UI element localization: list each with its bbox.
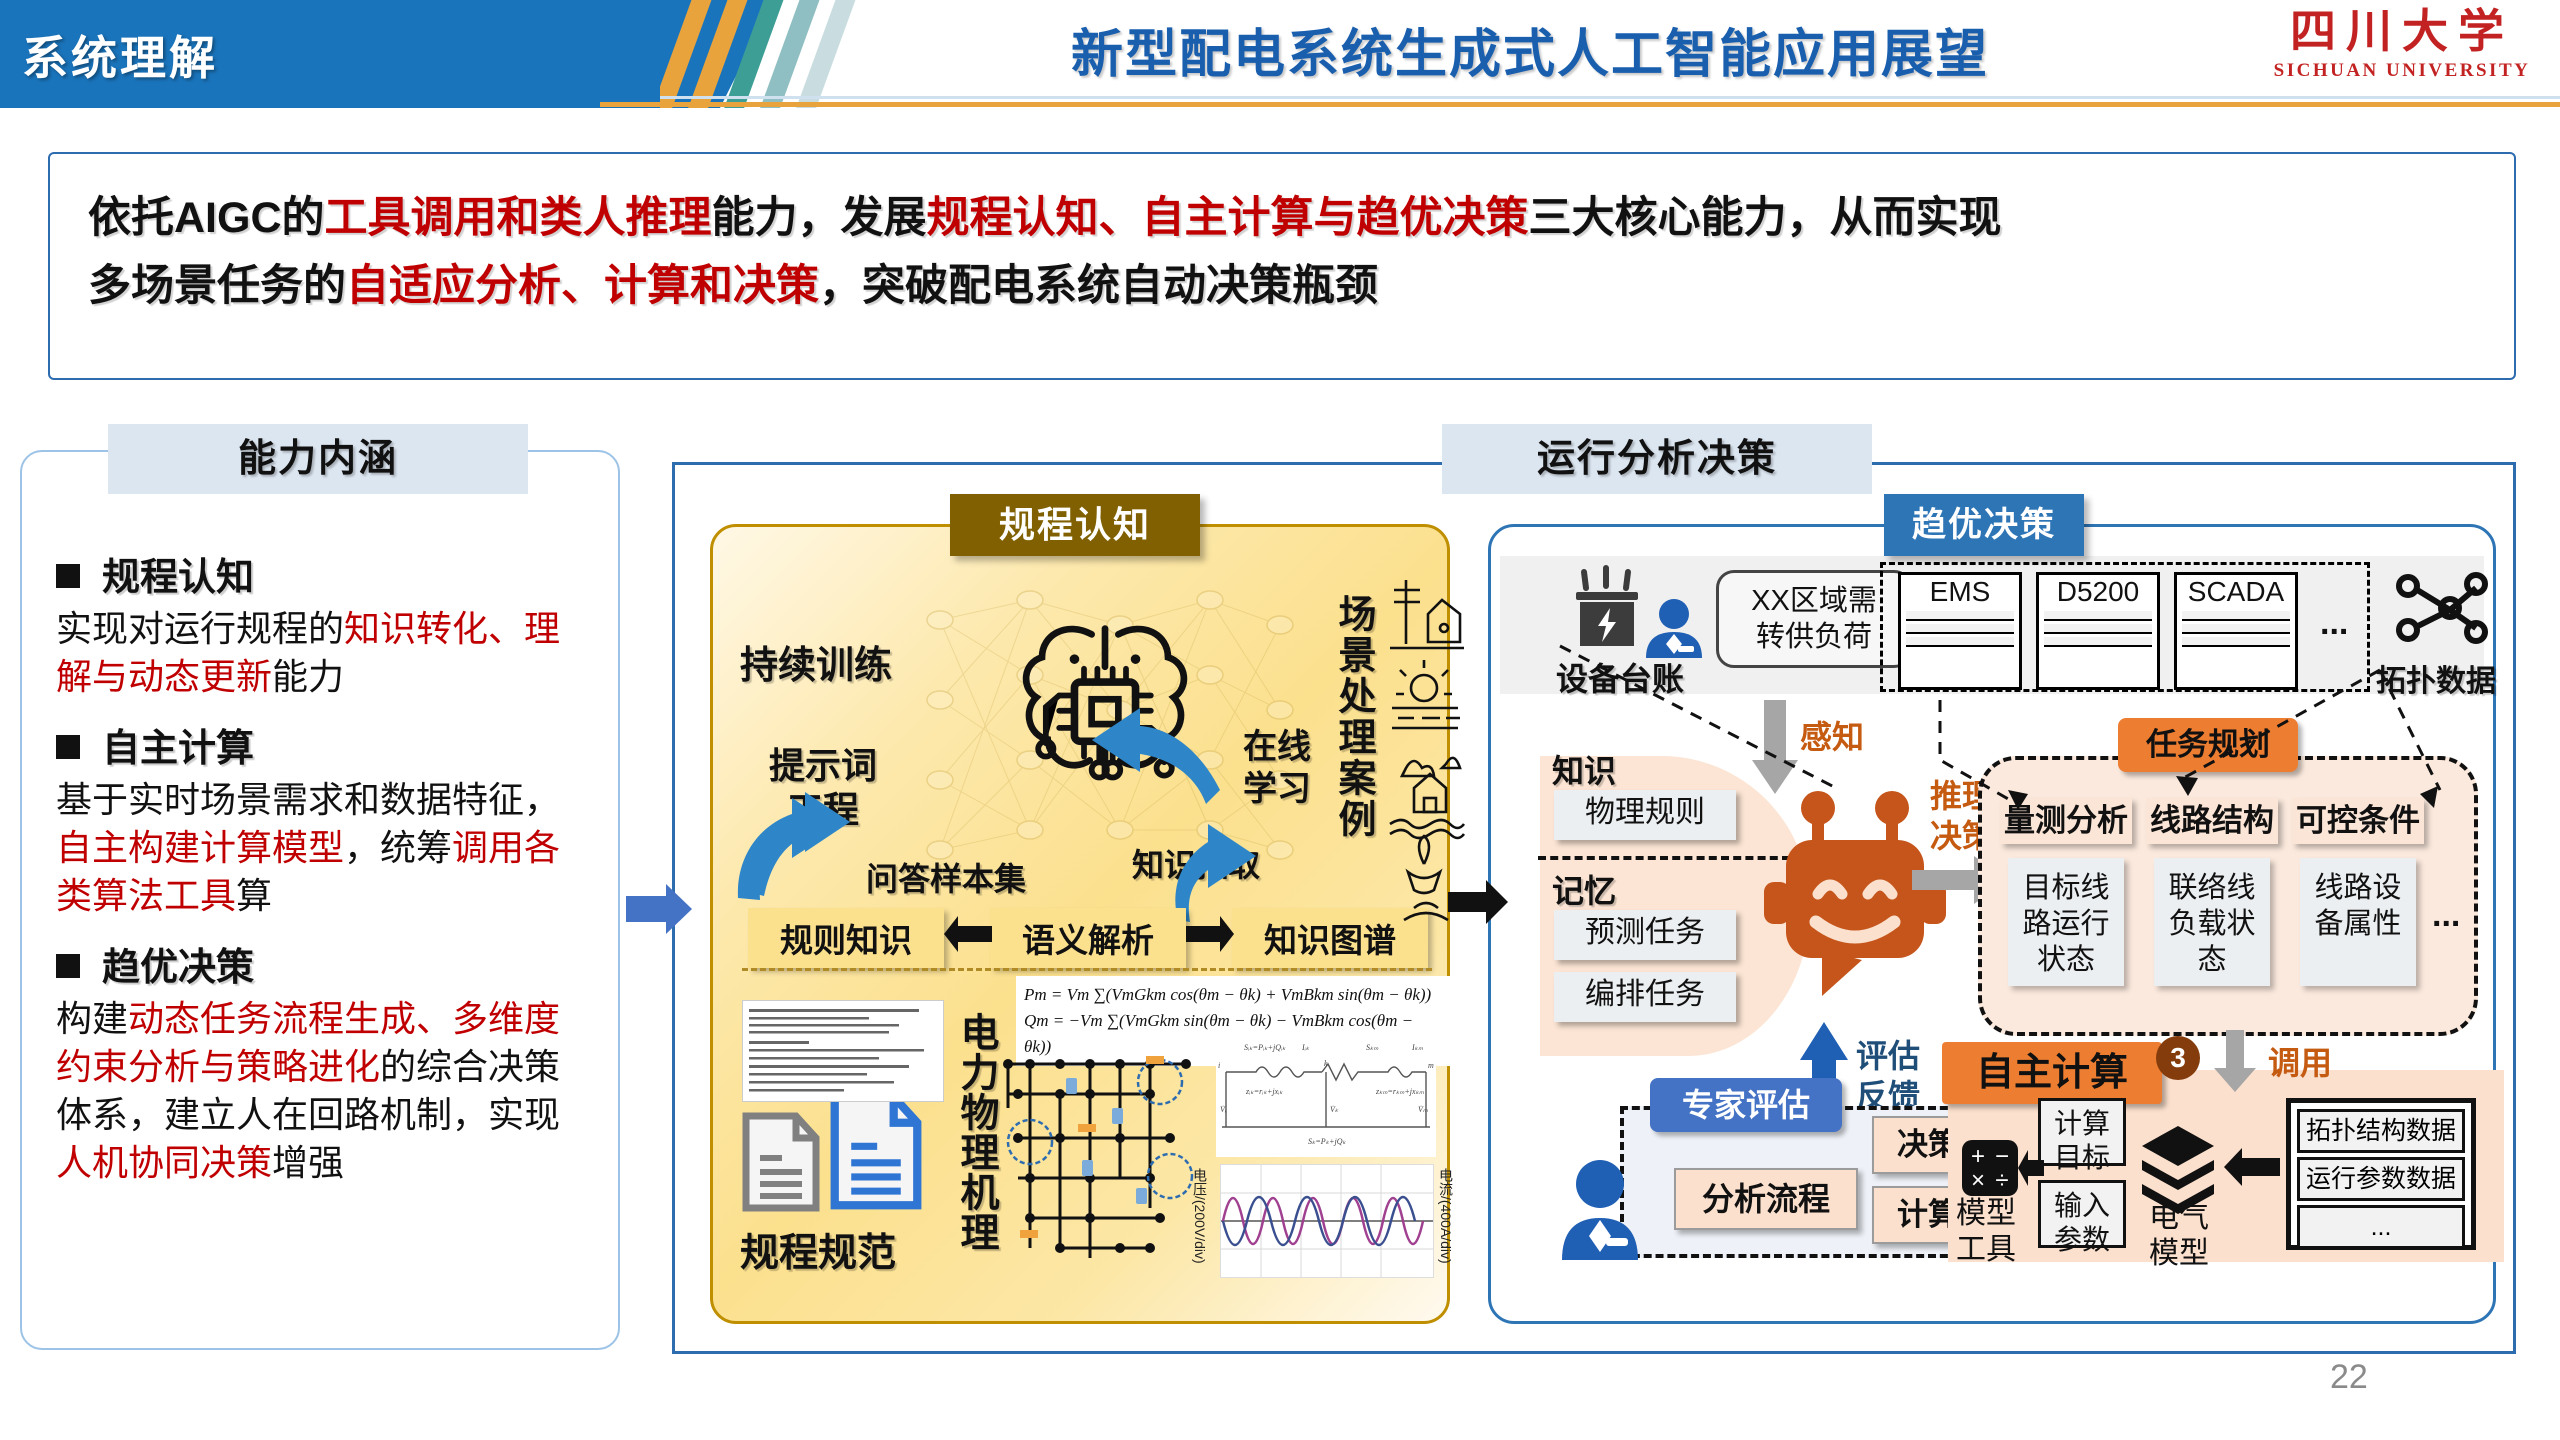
arrow-middle-to-right-icon bbox=[1448, 880, 1510, 924]
bullet-head-1: 规程认知 bbox=[56, 546, 596, 601]
bullet-3-a: 构建 bbox=[56, 998, 128, 1039]
chip-semantic-parsing: 语义解析 bbox=[990, 908, 1186, 968]
bullet-2-b: ，统筹 bbox=[344, 827, 452, 868]
statement-line-1: 依托AIGC的工具调用和类人推理能力，发展规程认知、自主计算与趋优决策三大核心能… bbox=[88, 184, 2476, 252]
waveform-axis-right: 电流/(400A/div) bbox=[1436, 1168, 1456, 1264]
statement-1e: 三大核心能力，从而实现 bbox=[1529, 194, 2002, 242]
bullet-3-c: 增强 bbox=[272, 1142, 344, 1183]
left-caption-text: 能力内涵 bbox=[238, 438, 398, 480]
autonomous-computation-tag: 自主计算 bbox=[1942, 1042, 2162, 1104]
label-invoke: 调用 bbox=[2268, 1038, 2332, 1084]
svg-text:k: k bbox=[1324, 1059, 1328, 1068]
expert-item-analysis-flow: 分析流程 bbox=[1674, 1168, 1858, 1230]
bullet-2-a: 基于实时场景需求和数据特征， bbox=[56, 779, 560, 820]
label-electric-model: 电气 模型 bbox=[2134, 1200, 2224, 1272]
right-caption-text: 运行分析决策 bbox=[1537, 438, 1777, 480]
bullet-body-3: 构建动态任务流程生成、多维度约束分析与策略进化的综合决策体系，建立人在回路机制，… bbox=[56, 995, 596, 1187]
task-columns-ellipsis: ... bbox=[2432, 896, 2460, 935]
statement-2b: 自适应分析、计算和决策 bbox=[346, 262, 819, 310]
logo-english-name: SICHUAN UNIVERSITY bbox=[2252, 60, 2552, 82]
page-number: 22 bbox=[2330, 1358, 2368, 1397]
svg-text:m: m bbox=[1428, 1061, 1434, 1070]
dashed-connectors bbox=[1540, 640, 2500, 840]
svg-text:i: i bbox=[1218, 1061, 1220, 1070]
bullet-1-title: 规程认知 bbox=[102, 557, 254, 599]
arrow-tool-left-icon bbox=[2018, 1150, 2044, 1186]
arrow-left-icon bbox=[944, 914, 994, 954]
svg-text:Sₖ=Pₖ+jQₖ: Sₖ=Pₖ+jQₖ bbox=[1308, 1137, 1346, 1146]
svg-text:Sₖₘ: Sₖₘ bbox=[1366, 1043, 1378, 1052]
page-title: 新型配电系统生成式人工智能应用展望 bbox=[840, 12, 2220, 87]
data-item-topology: 拓扑结构数据 bbox=[2297, 1109, 2465, 1153]
label-model-tool: 模型 工具 bbox=[1956, 1196, 2016, 1268]
bullet-2-red: 自主构建计算模型 bbox=[56, 827, 344, 868]
svg-text:Iᵢₖ: Iᵢₖ bbox=[1301, 1043, 1310, 1052]
document-gray-icon bbox=[742, 1112, 820, 1212]
formula-p: Pm = Vm ∑(VmGkm cos(θm − θk) + VmBkm sin… bbox=[1024, 982, 1444, 1008]
bullet-3-title: 趋优决策 bbox=[102, 947, 254, 989]
svg-text:V̇ᵢ: V̇ᵢ bbox=[1220, 1105, 1226, 1114]
header-stripe-decoration bbox=[660, 0, 860, 108]
task-col-body-line-structure: 联络线负载状态 bbox=[2154, 858, 2270, 986]
statement-line-2: 多场景任务的自适应分析、计算和决策，突破配电系统自动决策瓶颈 bbox=[88, 252, 2476, 320]
label-memory: 记忆 bbox=[1552, 866, 1616, 912]
knowledge-memory-divider bbox=[1538, 856, 1790, 860]
statement-1c: 能力，发展 bbox=[712, 194, 927, 242]
label-evaluate-feedback: 评估 反馈 bbox=[1856, 1036, 1920, 1116]
bullet-head-2: 自主计算 bbox=[56, 717, 596, 772]
bullet-body-1: 实现对运行规程的知识转化、理解与动态更新能力 bbox=[56, 605, 596, 701]
waveform-plot bbox=[1220, 1164, 1434, 1278]
statement-1d: 规程认知、自主计算与趋优决策 bbox=[927, 194, 1529, 242]
bullet-body-2: 基于实时场景需求和数据特征，自主构建计算模型，统筹调用各类算法工具算 bbox=[56, 776, 596, 920]
header-section-label: 系统理解 bbox=[22, 22, 218, 88]
data-item-ellipsis: ... bbox=[2297, 1205, 2465, 1249]
regulation-cognition-tag: 规程认知 bbox=[950, 494, 1200, 556]
page-header: 系统理解 新型配电系统生成式人工智能应用展望 四川大学 SICHUAN UNIV… bbox=[0, 0, 2560, 108]
bullet-2-title: 自主计算 bbox=[102, 728, 254, 770]
university-logo: 四川大学 SICHUAN UNIVERSITY bbox=[2252, 4, 2552, 104]
box-input-param: 输入 参数 bbox=[2038, 1180, 2126, 1248]
code-snippet-thumbnail bbox=[742, 1000, 944, 1102]
yellow-divider bbox=[742, 968, 1432, 971]
statement-2a: 多场景任务的 bbox=[88, 262, 346, 310]
arrow-right-icon bbox=[1186, 914, 1236, 954]
task-col-body-measurement: 目标线路运行状态 bbox=[2008, 858, 2124, 986]
capability-list: 规程认知 实现对运行规程的知识转化、理解与动态更新能力 自主计算 基于实时场景需… bbox=[56, 530, 596, 1193]
memory-item-predict-task: 预测任务 bbox=[1554, 910, 1736, 960]
label-spec-norms: 规程规范 bbox=[740, 1222, 896, 1278]
right-panel-caption: 运行分析决策 bbox=[1442, 424, 1872, 494]
bullet-square-icon bbox=[56, 954, 80, 978]
left-panel-caption: 能力内涵 bbox=[108, 424, 528, 494]
statement-1a: 依托AIGC的 bbox=[88, 194, 325, 242]
system-label-ems: EMS bbox=[1901, 575, 2019, 609]
bullet-1-b: 能力 bbox=[272, 656, 344, 697]
svg-text:V̇ₖ: V̇ₖ bbox=[1330, 1105, 1339, 1114]
key-statement-box: 依托AIGC的工具调用和类人推理能力，发展规程认知、自主计算与趋优决策三大核心能… bbox=[48, 152, 2516, 380]
step-badge-3: 3 bbox=[2156, 1036, 2200, 1080]
optimal-decision-tag: 趋优决策 bbox=[1884, 494, 2084, 556]
label-power-physics: 电力物理机理 bbox=[948, 1012, 1004, 1252]
memory-item-orchestrate-task: 编排任务 bbox=[1554, 972, 1736, 1022]
svg-text:Sᵢₖ=Pᵢₖ+jQᵢₖ: Sᵢₖ=Pᵢₖ+jQᵢₖ bbox=[1244, 1043, 1286, 1052]
data-source-card: 拓扑结构数据 运行参数数据 ... bbox=[2286, 1098, 2476, 1250]
bullet-head-3: 趋优决策 bbox=[56, 936, 596, 991]
svg-text:V̇ₘ: V̇ₘ bbox=[1418, 1105, 1428, 1114]
logo-chinese-name: 四川大学 bbox=[2252, 4, 2552, 60]
chip-rule-knowledge: 规则知识 bbox=[748, 908, 944, 968]
task-col-body-controllable: 线路设备属性 bbox=[2300, 858, 2416, 986]
bullet-2-c: 算 bbox=[236, 875, 272, 916]
bullet-3-red2: 人机协同决策 bbox=[56, 1142, 272, 1183]
document-blue-icon bbox=[830, 1092, 922, 1210]
systems-ellipsis: ... bbox=[2320, 604, 2348, 643]
svg-text:Iₖₘ: Iₖₘ bbox=[1411, 1043, 1423, 1052]
data-item-operating-params: 运行参数数据 bbox=[2297, 1157, 2465, 1201]
statement-1b: 工具调用和类人推理 bbox=[325, 194, 712, 242]
bullet-square-icon bbox=[56, 564, 80, 588]
svg-text:zᵢₖ=rᵢₖ+jxᵢₖ: zᵢₖ=rᵢₖ+jxᵢₖ bbox=[1245, 1087, 1283, 1096]
arrow-data-to-model-icon bbox=[2224, 1146, 2280, 1188]
box-calc-goal: 计算 目标 bbox=[2038, 1098, 2126, 1166]
expert-evaluation-tag: 专家评估 bbox=[1650, 1078, 1842, 1132]
statement-2c: ，突破配电系统自动决策瓶颈 bbox=[819, 262, 1378, 310]
bullet-1-a: 实现对运行规程的 bbox=[56, 608, 344, 649]
waveform-axis-left: 电压/(200V/div) bbox=[1190, 1168, 1210, 1264]
expert-avatar-icon bbox=[1556, 1158, 1646, 1262]
bullet-square-icon bbox=[56, 735, 80, 759]
invoke-arrow-icon bbox=[2214, 1030, 2256, 1094]
system-label-d5200: D5200 bbox=[2039, 575, 2157, 609]
svg-text:zₖₘ=rₖₘ+jxₖₘ: zₖₘ=rₖₘ+jxₖₘ bbox=[1375, 1087, 1424, 1096]
distribution-network-diagram bbox=[1000, 1048, 1200, 1278]
system-label-scada: SCADA bbox=[2177, 575, 2295, 609]
equivalent-circuit-diagram: Sᵢₖ=Pᵢₖ+jQᵢₖIᵢₖ SₖₘIₖₘ zᵢₖ=rᵢₖ+jxᵢₖzₖₘ=r… bbox=[1216, 1032, 1436, 1157]
